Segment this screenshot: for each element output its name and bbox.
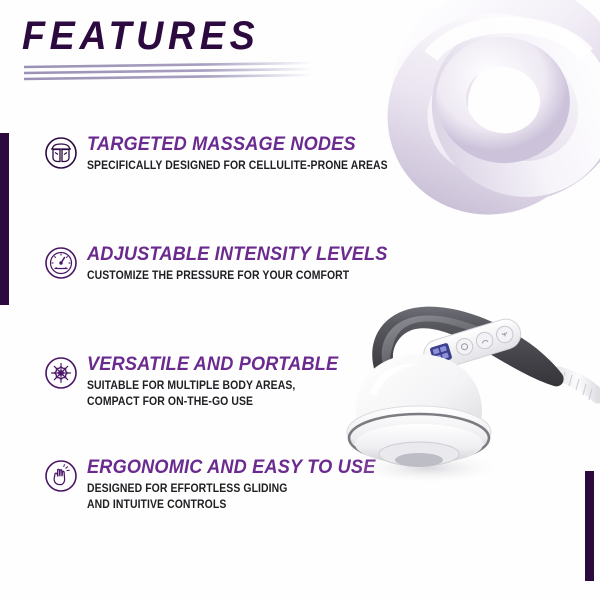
- feature-item-versatile-and-portable: VERSATILE AND PORTABLE SUITABLE FOR MULT…: [44, 354, 357, 409]
- feature-subtitle-line: AND INTUITIVE CONTROLS: [87, 497, 366, 512]
- feature-heading: ADJUSTABLE INTENSITY LEVELS: [87, 245, 388, 265]
- gauge-icon: [44, 246, 78, 280]
- left-accent-bar: [0, 133, 9, 305]
- feature-text: ERGONOMIC AND EASY TO USE DESIGNED FOR E…: [87, 457, 397, 512]
- feature-text: ADJUSTABLE INTENSITY LEVELS CUSTOMIZE TH…: [87, 244, 410, 283]
- feature-item-targeted-massage-nodes: TARGETED MASSAGE NODES SPECIFICALLY DESI…: [44, 134, 421, 173]
- handheld-body-massager-image: [322, 262, 600, 484]
- abstract-torus-knot-icon: [383, 0, 600, 225]
- feature-heading: VERSATILE AND PORTABLE: [87, 355, 338, 375]
- title-underline-rules: [22, 62, 322, 84]
- feature-subtitle-line: SUITABLE FOR MULTIPLE BODY AREAS,: [87, 378, 330, 393]
- feature-heading: ERGONOMIC AND EASY TO USE: [87, 458, 375, 478]
- snowflake-burst-icon: [44, 356, 78, 390]
- feature-poster: FEATURES: [0, 0, 600, 600]
- feature-item-adjustable-intensity-levels: ADJUSTABLE INTENSITY LEVELS CUSTOMIZE TH…: [44, 244, 410, 283]
- feature-subtitle-line: COMPACT FOR ON-THE-GO USE: [87, 394, 330, 409]
- feature-subtitle-line: SPECIFICALLY DESIGNED FOR CELLULITE-PRON…: [87, 158, 388, 173]
- feature-subtitle-line: CUSTOMIZE THE PRESSURE FOR YOUR COMFORT: [87, 268, 378, 283]
- feature-text: TARGETED MASSAGE NODES SPECIFICALLY DESI…: [87, 134, 421, 173]
- feature-item-ergonomic-and-easy-to-use: ERGONOMIC AND EASY TO USE DESIGNED FOR E…: [44, 457, 397, 512]
- page-title-block: FEATURES: [22, 16, 332, 56]
- feature-subtitle-line: DESIGNED FOR EFFORTLESS GLIDING: [87, 481, 366, 496]
- massage-nodes-icon: [44, 136, 78, 170]
- hand-gesture-icon: [44, 459, 78, 493]
- feature-text: VERSATILE AND PORTABLE SUITABLE FOR MULT…: [87, 354, 357, 409]
- right-accent-bar: [585, 471, 594, 581]
- feature-heading: TARGETED MASSAGE NODES: [87, 135, 398, 155]
- page-title: FEATURES: [22, 16, 313, 56]
